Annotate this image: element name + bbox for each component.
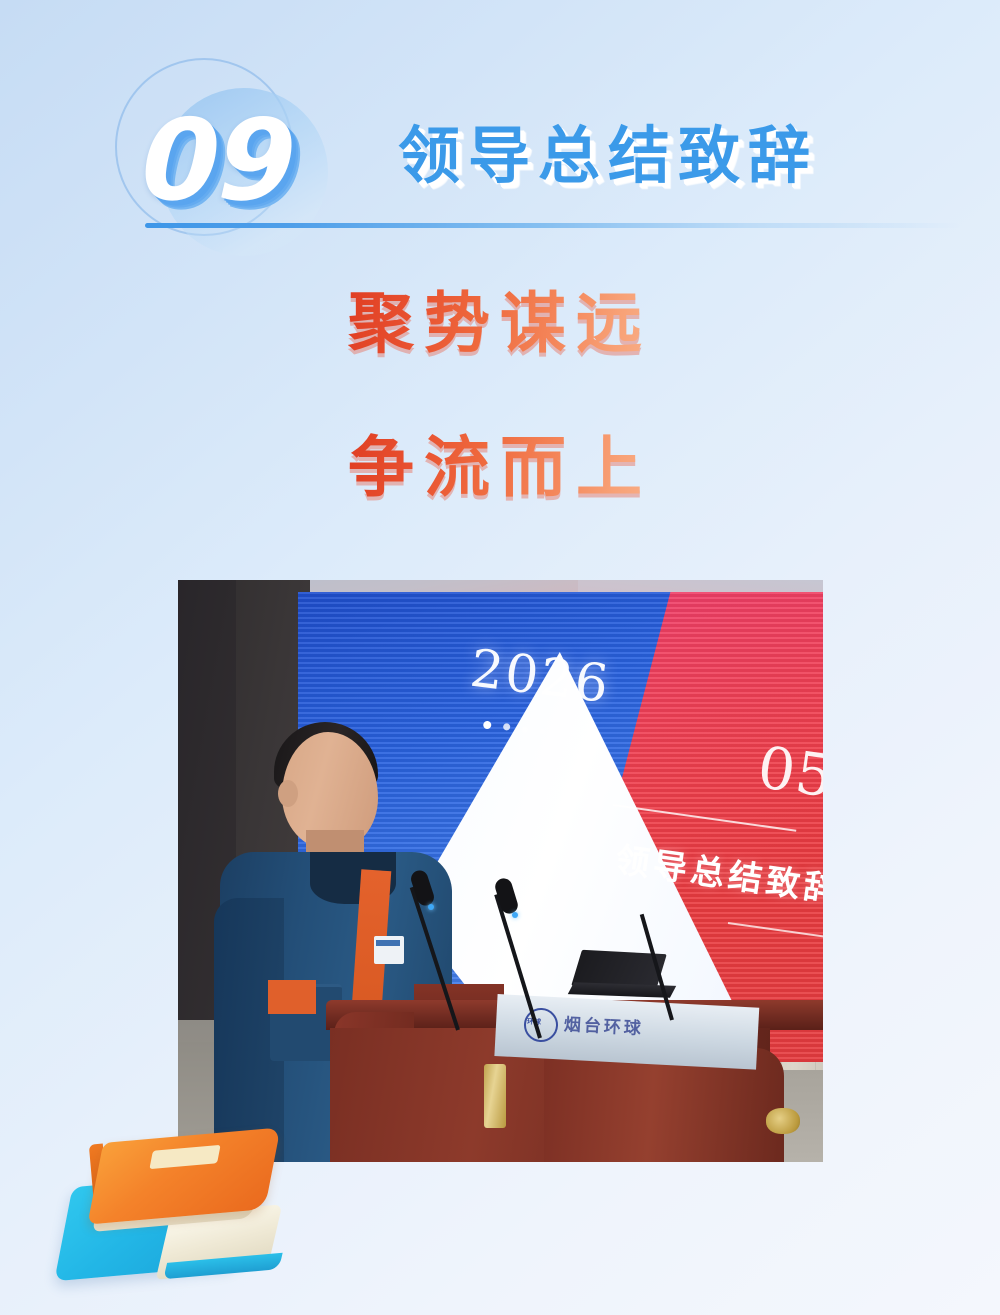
poster-header: 09 领导总结致辞 [0,95,1000,245]
dot [503,723,511,731]
slogan-line-2-text: 争流而上 [348,428,652,506]
poster-root: 09 领导总结致辞 聚势谋远 聚势谋远 争流而上 争流而上 [0,0,1000,1315]
dot [483,720,492,729]
slogan-block: 聚势谋远 聚势谋远 争流而上 争流而上 [0,290,1000,500]
books-icon [55,1118,315,1303]
page-title: 领导总结致辞 [398,125,818,187]
event-photo: 2026 05 领导总结致辞 [178,580,823,1162]
speaker-ear [278,780,298,807]
photo-contents: 2026 05 领导总结致辞 [178,580,823,1162]
podium-gold-column [484,1064,506,1128]
microphone-indicator-1 [428,904,434,910]
slogan-line-2: 争流而上 争流而上 [0,434,1000,500]
podium-gold-ornament [766,1108,800,1134]
section-number: 09 [140,105,296,217]
speaker-pocket-flap [268,980,316,1014]
dot [522,726,529,733]
dot [540,729,546,735]
podium-brand-text: 烟台环球 [563,1010,644,1039]
slogan-line-1-text: 聚势谋远 [348,284,652,362]
screen-section-index: 05 [754,733,823,811]
microphone-indicator-2 [512,912,518,918]
speaker-name-badge-bar [376,940,400,946]
slogan-line-1: 聚势谋远 聚势谋远 [0,290,1000,356]
